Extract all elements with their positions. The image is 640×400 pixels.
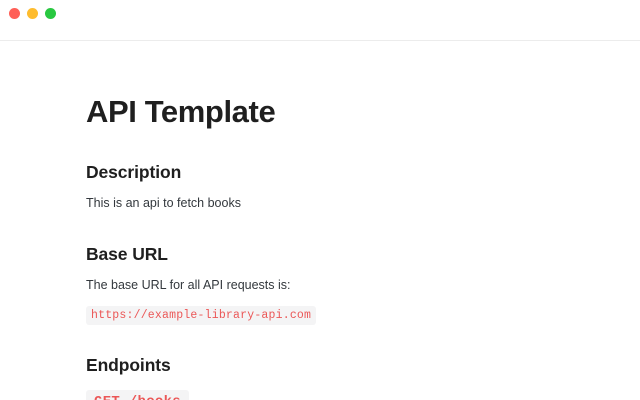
app-window: API Template Description This is an api … [0,0,640,400]
section-heading-description: Description [86,162,600,183]
description-paragraph: This is an api to fetch books [86,194,600,212]
base-url-paragraph: The base URL for all API requests is: [86,276,600,294]
minimize-window-icon[interactable] [27,8,38,19]
base-url-code: https://example-library-api.com [86,306,316,325]
close-window-icon[interactable] [9,8,20,19]
window-titlebar [0,0,640,26]
toolbar-strip [0,26,640,40]
traffic-light-controls [9,8,56,19]
document-body: API Template Description This is an api … [0,41,640,400]
section-heading-endpoints: Endpoints [86,355,600,376]
maximize-window-icon[interactable] [45,8,56,19]
section-heading-base-url: Base URL [86,244,600,265]
page-title: API Template [86,93,600,130]
endpoint-get-books-code: GET /books [86,390,189,400]
document-content: API Template Description This is an api … [0,41,640,400]
